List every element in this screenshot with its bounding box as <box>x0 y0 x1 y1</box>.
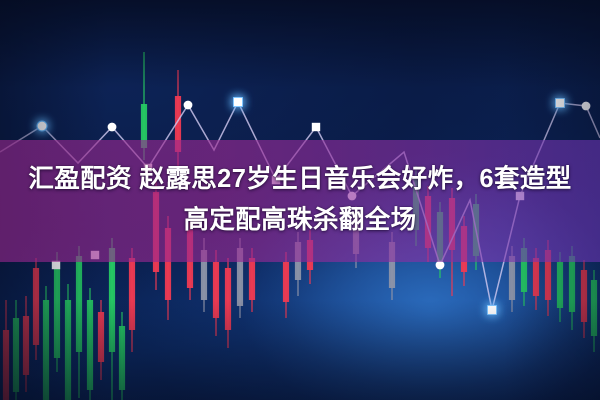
headline-line-2: 高定配高珠杀翻全场 <box>0 200 600 241</box>
headline-line-1: 汇盈配资 赵露思27岁生日音乐会好炸，6套造型 <box>0 159 600 200</box>
article-banner: 汇盈配资 赵露思27岁生日音乐会好炸，6套造型 高定配高珠杀翻全场 <box>0 0 600 400</box>
page-title: 汇盈配资 赵露思27岁生日音乐会好炸，6套造型 高定配高珠杀翻全场 <box>0 159 600 241</box>
